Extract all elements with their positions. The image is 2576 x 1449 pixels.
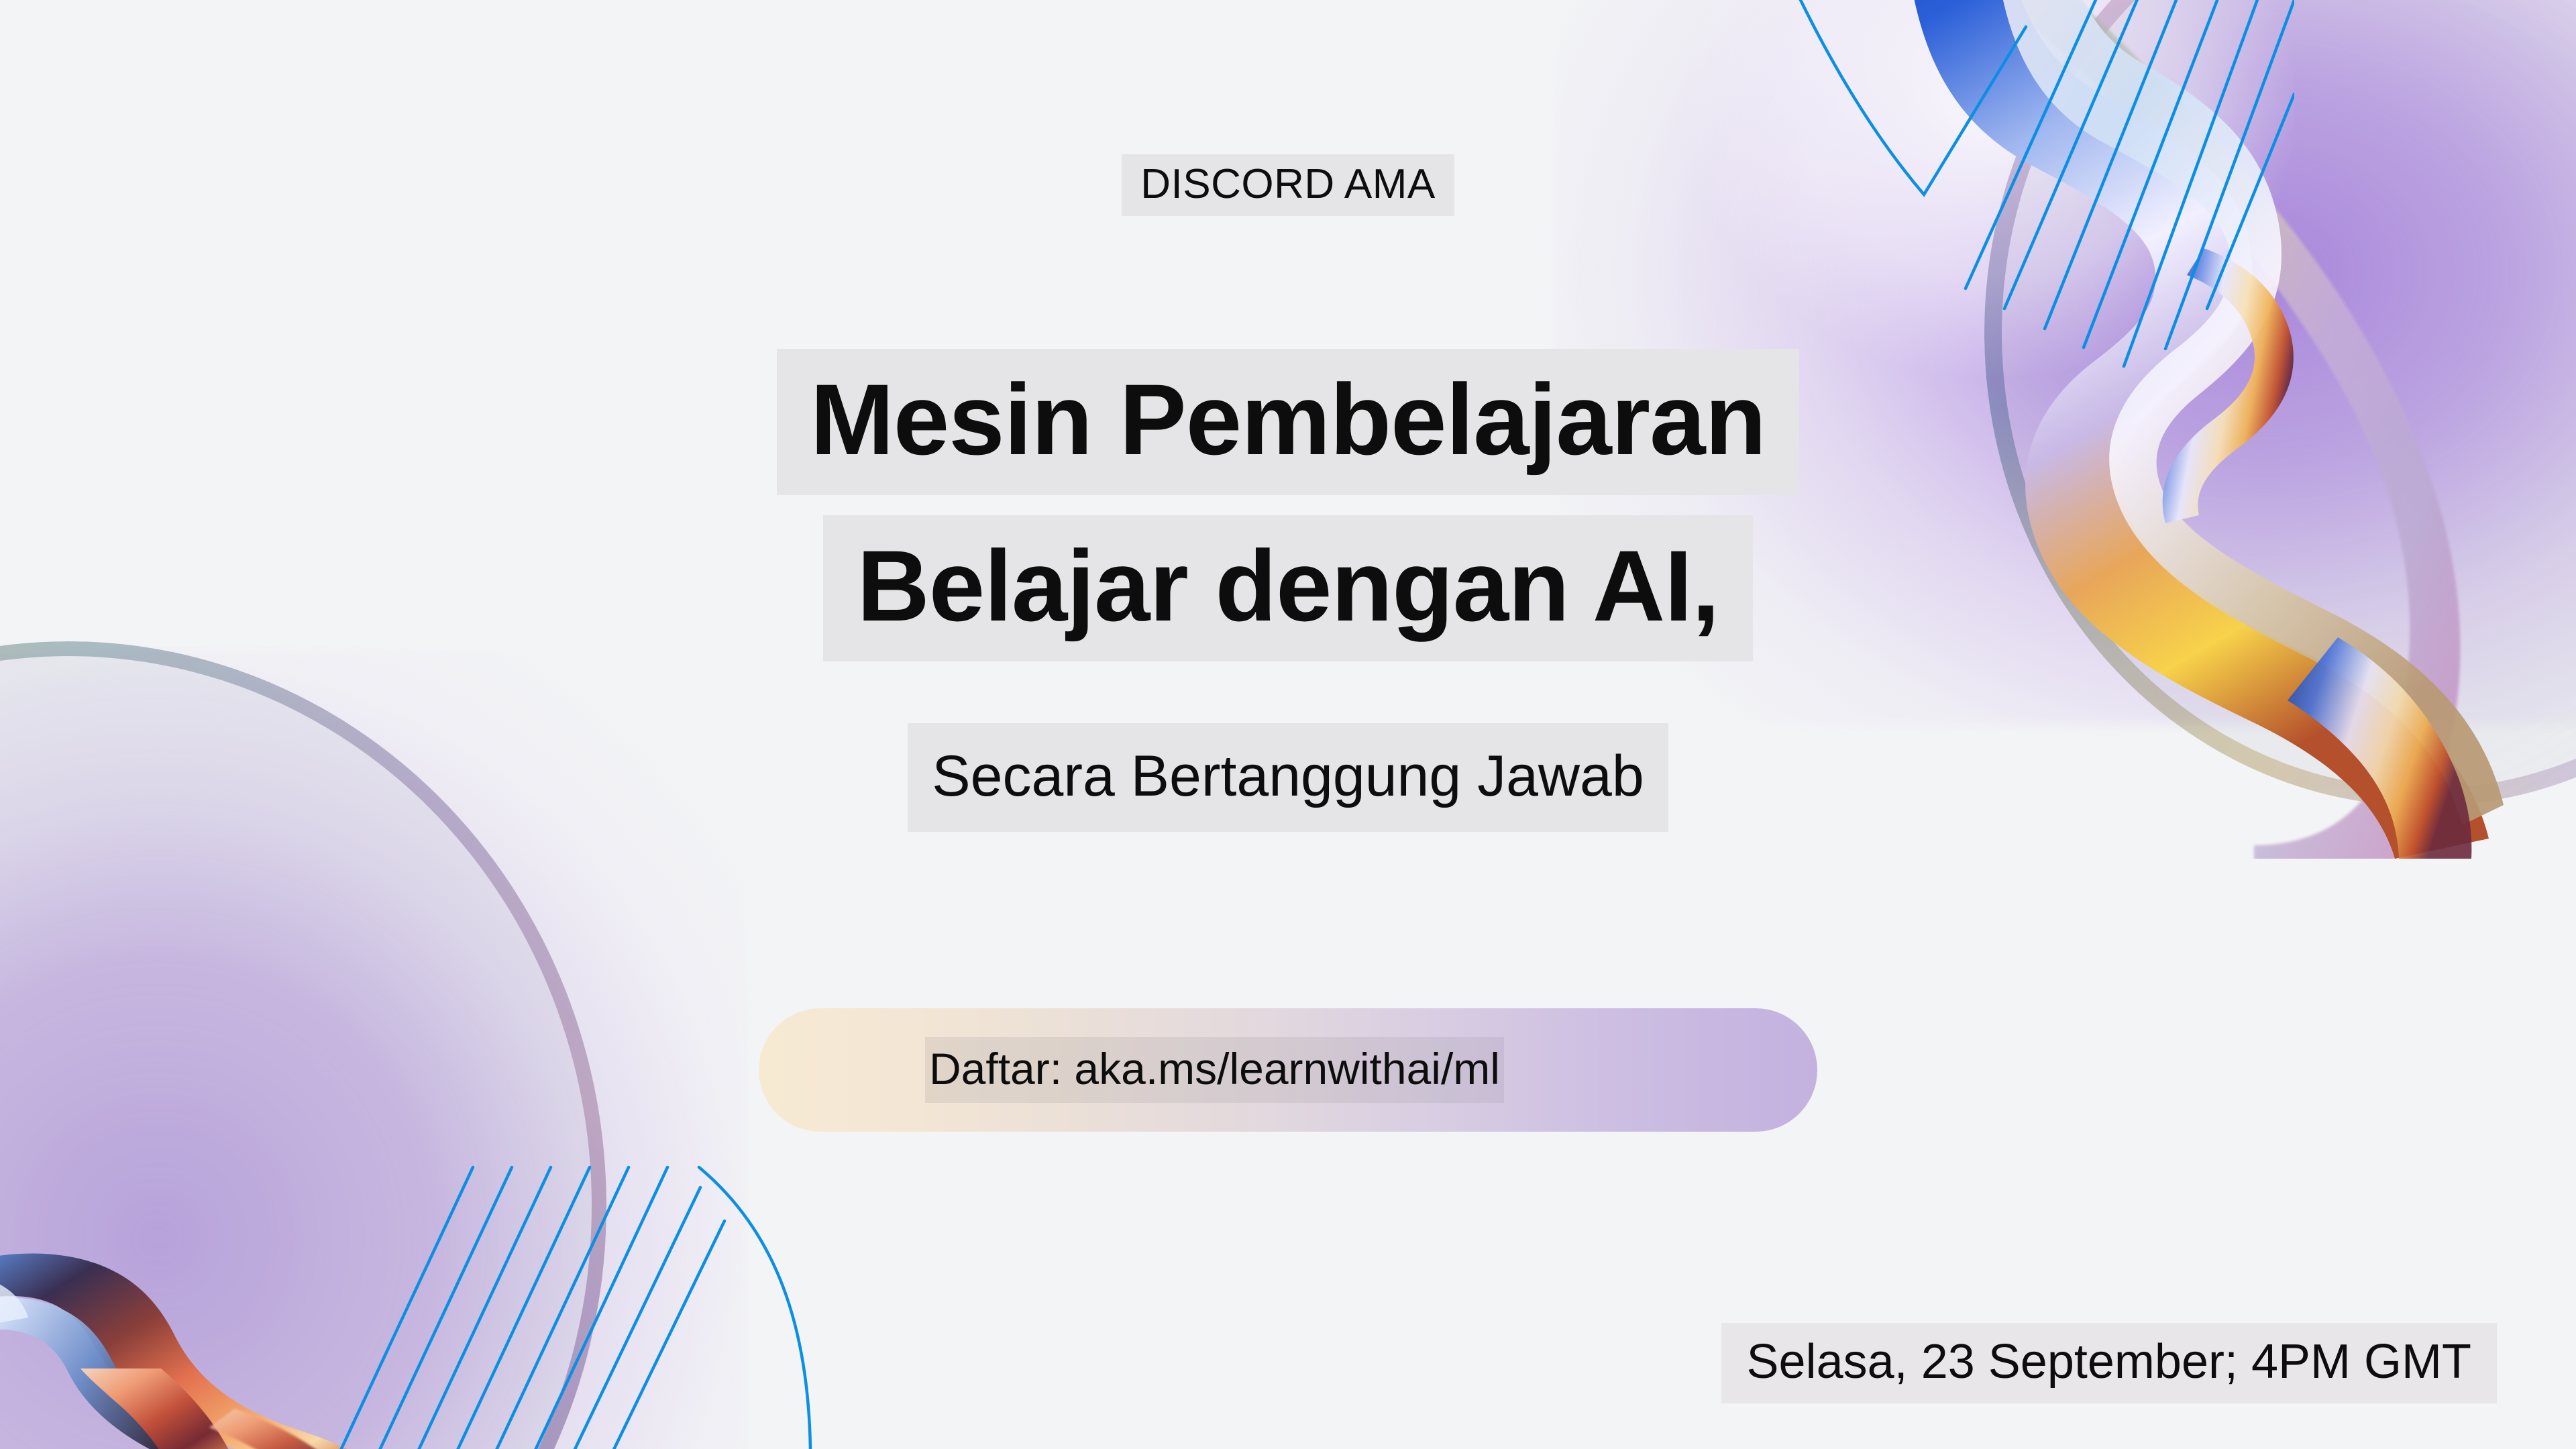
title-line-1: Mesin Pembelajaran [777,349,1799,495]
subtitle-label: Secara Bertanggung Jawab [908,723,1668,832]
date-row: Selasa, 23 September; 4PM GMT [1721,1323,2497,1403]
page-title: Mesin Pembelajaran Belajar dengan AI, [0,349,2576,661]
title-line-1-wrap: Mesin Pembelajaran [0,349,2576,495]
title-line-2: Belajar dengan AI, [823,515,1752,661]
eyebrow-row: DISCORD AMA [0,154,2576,216]
slide-content: DISCORD AMA Mesin Pembelajaran Belajar d… [0,0,2576,1449]
register-button-label: Daftar: aka.ms/learnwithai/ml [925,1037,1504,1103]
eyebrow-label: DISCORD AMA [1122,154,1454,216]
register-button[interactable]: Daftar: aka.ms/learnwithai/ml [759,1008,1817,1132]
subtitle-row: Secara Bertanggung Jawab [0,723,2576,832]
event-date-label: Selasa, 23 September; 4PM GMT [1721,1323,2497,1403]
slide-canvas: DISCORD AMA Mesin Pembelajaran Belajar d… [0,0,2576,1449]
cta-row: Daftar: aka.ms/learnwithai/ml [0,1008,2576,1135]
title-line-2-wrap: Belajar dengan AI, [0,515,2576,661]
